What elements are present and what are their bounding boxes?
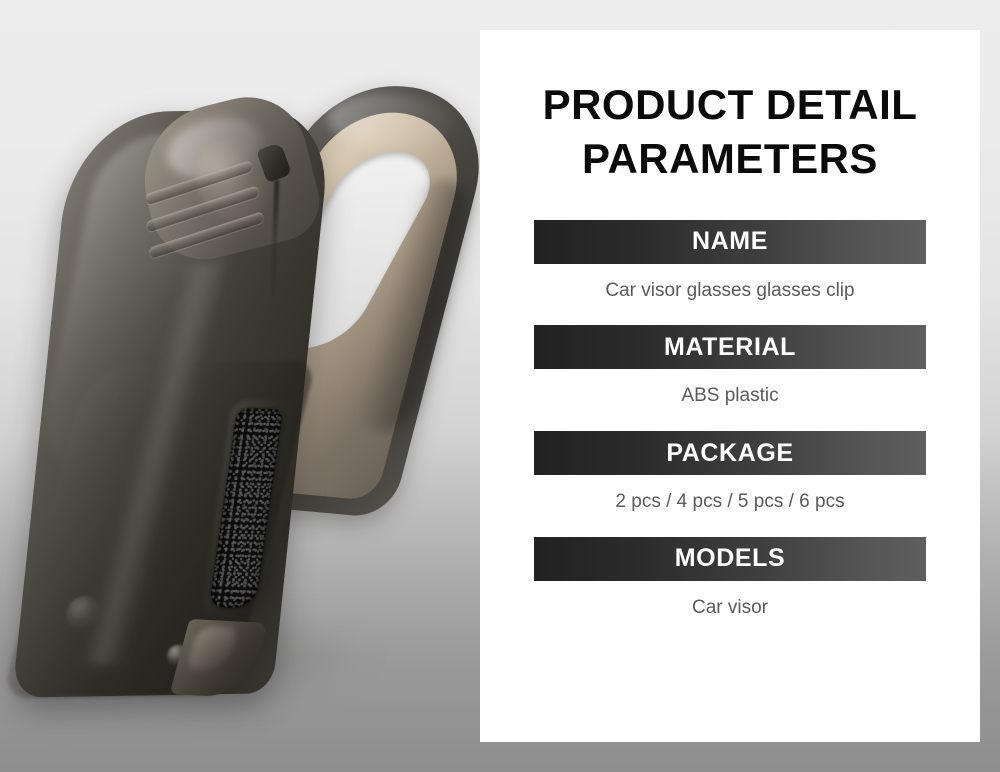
- spec-value-material: ABS plastic: [480, 369, 980, 419]
- spec-row-package: PACKAGE 2 pcs / 4 pcs / 5 pcs / 6 pcs: [480, 431, 980, 525]
- page-title: PRODUCT DETAIL PARAMETERS: [480, 30, 980, 186]
- clip-tip-gloss: [186, 625, 238, 671]
- spec-value-package: 2 pcs / 4 pcs / 5 pcs / 6 pcs: [480, 475, 980, 525]
- spec-header-models: MODELS: [534, 537, 926, 581]
- spec-header-label: MATERIAL: [664, 335, 796, 360]
- spec-header-name: NAME: [534, 220, 926, 264]
- spec-value-models: Car visor: [480, 581, 980, 631]
- spec-header-material: MATERIAL: [534, 325, 926, 369]
- spec-row-name: NAME Car visor glasses glasses clip: [480, 220, 980, 314]
- spec-header-label: PACKAGE: [666, 441, 793, 466]
- spec-panel: PRODUCT DETAIL PARAMETERS NAME Car visor…: [480, 30, 980, 742]
- page-title-line-2: PARAMETERS: [582, 135, 878, 182]
- spec-row-models: MODELS Car visor: [480, 537, 980, 631]
- car-visor-glasses-clip: [10, 64, 480, 693]
- spec-row-material: MATERIAL ABS plastic: [480, 325, 980, 419]
- product-image: [0, 0, 480, 772]
- spec-header-package: PACKAGE: [534, 431, 926, 475]
- spec-table: NAME Car visor glasses glasses clip MATE…: [480, 220, 980, 631]
- spec-value-name: Car visor glasses glasses clip: [480, 264, 980, 314]
- product-detail-page: PRODUCT DETAIL PARAMETERS NAME Car visor…: [0, 0, 1000, 772]
- page-title-line-1: PRODUCT DETAIL: [543, 81, 918, 128]
- spec-header-label: NAME: [692, 229, 768, 254]
- spec-header-label: MODELS: [675, 546, 786, 571]
